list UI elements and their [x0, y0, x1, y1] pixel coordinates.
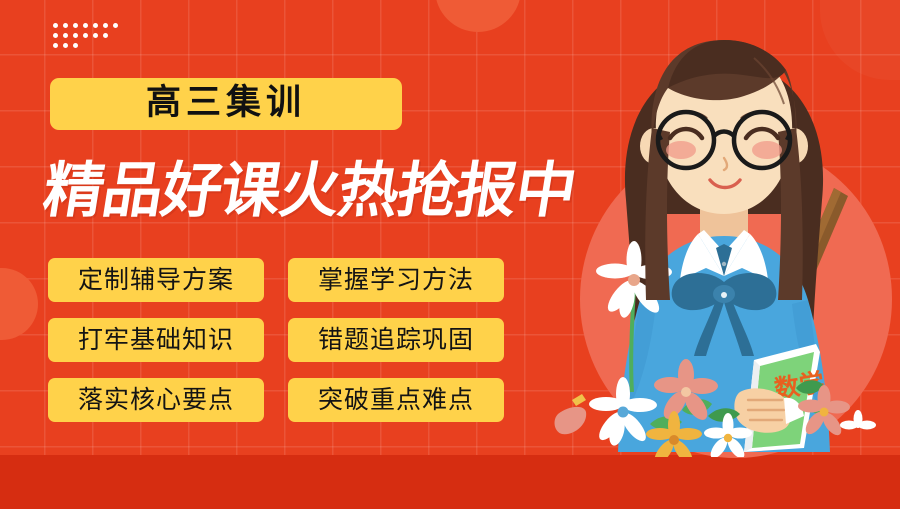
feature-pill-label: 打牢基础知识 [78, 327, 234, 352]
headline-text: 精品好课火热抢报中 [39, 161, 580, 221]
top-arch-decoration [435, 0, 521, 32]
dot [73, 43, 78, 48]
dot [103, 23, 108, 28]
feature-pill-label: 落实核心要点 [78, 387, 234, 412]
feature-pill-label: 掌握学习方法 [318, 267, 474, 292]
student-illustration: 数学 [548, 0, 900, 509]
feature-pill[interactable]: 突破重点难点 [288, 378, 504, 422]
cheek-left [666, 141, 696, 159]
feature-pill[interactable]: 打牢基础知识 [48, 318, 264, 362]
dot [63, 33, 68, 38]
feature-pill[interactable]: 定制辅导方案 [48, 258, 264, 302]
dot-matrix-decoration [53, 23, 121, 53]
left-arch-decoration [0, 268, 38, 340]
feature-pill-label: 定制辅导方案 [78, 267, 234, 292]
dot [113, 23, 118, 28]
dot [93, 23, 98, 28]
dot [53, 43, 58, 48]
course-badge: 高三集训 [50, 78, 402, 130]
feature-pill[interactable]: 掌握学习方法 [288, 258, 504, 302]
student-figure-svg: 数学 [548, 0, 900, 509]
dot [83, 33, 88, 38]
dot [73, 23, 78, 28]
pencil-icon [555, 394, 587, 434]
dot [53, 33, 58, 38]
dot [73, 33, 78, 38]
feature-pill-label: 突破重点难点 [318, 387, 474, 412]
dot [63, 43, 68, 48]
collar-button [722, 262, 726, 266]
dot [83, 23, 88, 28]
dot [53, 23, 58, 28]
course-badge-label: 高三集训 [146, 86, 306, 121]
feature-pill[interactable]: 落实核心要点 [48, 378, 264, 422]
feature-pill-grid: 定制辅导方案 掌握学习方法 打牢基础知识 错题追踪巩固 落实核心要点 突破重点难… [48, 258, 504, 422]
feature-pill-label: 错题追踪巩固 [318, 327, 474, 352]
promo-poster: 高三集训 精品好课火热抢报中 定制辅导方案 掌握学习方法 打牢基础知识 错题追踪… [0, 0, 900, 509]
white-bud-right [840, 410, 876, 430]
cheek-right [752, 141, 782, 159]
dot [103, 33, 108, 38]
headline: 精品好课火热抢报中 [44, 155, 584, 227]
dot [93, 33, 98, 38]
feature-pill[interactable]: 错题追踪巩固 [288, 318, 504, 362]
dot [63, 23, 68, 28]
